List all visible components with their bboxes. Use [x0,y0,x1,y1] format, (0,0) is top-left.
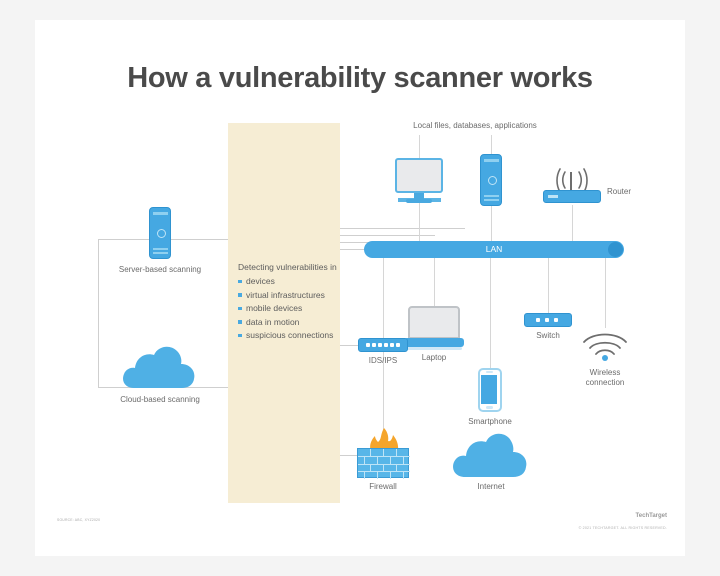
connector-panel-fw [340,235,435,236]
firewall-icon [357,430,409,478]
server-scanning-label: Server-based scanning [100,265,220,275]
techtarget-logo: TechTarget [636,513,667,519]
laptop-label: Laptop [404,353,464,363]
connector-lan-phone [490,258,491,368]
detection-list-item: virtual infrastructures [238,290,338,301]
detection-list: devices virtual infrastructures mobile d… [238,276,338,341]
connector-panel-row [340,228,465,229]
lan-label: LAN [364,241,624,258]
laptop-icon [404,306,464,351]
connector-lan-laptop [434,258,435,308]
cloud-scanning-icon [120,340,200,390]
wifi-waves-icon [580,328,630,362]
detection-list-item: mobile devices [238,303,338,314]
screenshot-frame: How a vulnerability scanner works Detect… [0,0,720,576]
internet-cloud-shape [450,427,532,479]
cloud-scanning-label: Cloud-based scanning [100,395,220,405]
server-tower-icon [480,154,502,206]
detection-panel-heading: Detecting vulnerabilities in [238,262,338,273]
page-title: How a vulnerability scanner works [35,62,685,95]
firewall-label: Firewall [357,482,409,492]
detection-panel-text: Detecting vulnerabilities in devices vir… [238,262,338,344]
infographic-card: How a vulnerability scanner works Detect… [35,20,685,556]
detection-list-item: data in motion [238,317,338,328]
connector-lan-router [572,205,573,241]
copyright-note: © 2021 TECHTARGET. ALL RIGHTS RESERVED. [579,526,667,530]
ids-ips-label: IDS/IPS [358,356,408,366]
switch-icon [524,313,572,327]
lan-bar: LAN [364,241,624,258]
detection-list-item: suspicious connections [238,330,338,341]
wireless-connection-label: Wireless connection [570,368,640,388]
connector-lan-switch [548,258,549,314]
wireless-connection-icon [580,328,630,362]
ids-ips-icon [358,338,408,352]
cloud-shape [120,340,200,390]
router-icon [543,168,601,205]
desktop-monitor-icon [395,158,443,204]
local-files-caption: Local files, databases, applications [345,121,605,131]
smartphone-icon [478,368,502,412]
detection-list-item: devices [238,276,338,287]
router-label: Router [607,187,655,197]
internet-label: Internet [450,482,532,492]
source-note: SOURCE: ABC, XYZ2020 [57,518,477,523]
switch-label: Switch [524,331,572,341]
connector-left-vertical [98,239,99,387]
connector-lan-wireless [605,258,606,328]
smartphone-label: Smartphone [455,417,525,427]
connector-ids-drop [383,258,384,346]
internet-icon [450,427,532,479]
server-scanning-icon [149,207,171,259]
